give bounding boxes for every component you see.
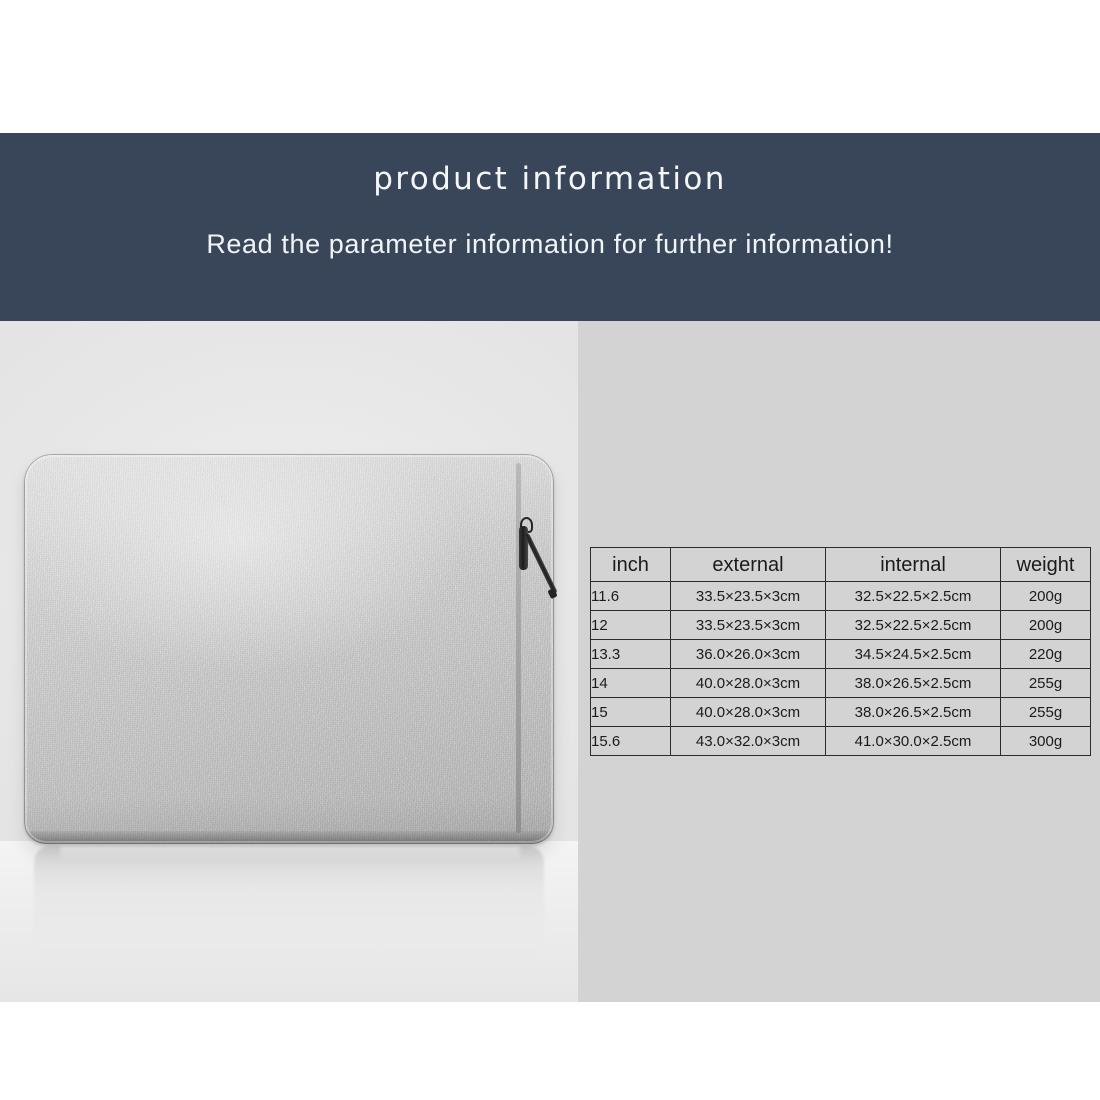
page-title: product information <box>0 161 1100 197</box>
cell-external: 40.0×28.0×3cm <box>671 669 826 698</box>
table-row: 12 33.5×23.5×3cm 32.5×22.5×2.5cm 200g <box>591 611 1091 640</box>
cell-weight: 255g <box>1001 669 1091 698</box>
cell-external: 40.0×28.0×3cm <box>671 698 826 727</box>
specification-table: inch external internal weight 11.6 33.5×… <box>590 547 1091 756</box>
cell-weight: 255g <box>1001 698 1091 727</box>
laptop-sleeve-product <box>24 454 554 844</box>
cell-internal: 32.5×22.5×2.5cm <box>826 582 1001 611</box>
spec-panel: inch external internal weight 11.6 33.5×… <box>578 321 1100 1002</box>
table-row: 14 40.0×28.0×3cm 38.0×26.5×2.5cm 255g <box>591 669 1091 698</box>
table-header-row: inch external internal weight <box>591 548 1091 582</box>
header-banner: product information Read the parameter i… <box>0 133 1100 321</box>
page-subtitle: Read the parameter information for furth… <box>0 229 1100 260</box>
cell-inch: 15.6 <box>591 727 671 756</box>
cell-external: 36.0×26.0×3cm <box>671 640 826 669</box>
cell-weight: 300g <box>1001 727 1091 756</box>
cell-weight: 200g <box>1001 611 1091 640</box>
cell-weight: 220g <box>1001 640 1091 669</box>
cell-external: 33.5×23.5×3cm <box>671 582 826 611</box>
product-info-page: product information Read the parameter i… <box>0 0 1100 1100</box>
cell-external: 43.0×32.0×3cm <box>671 727 826 756</box>
column-header-external: external <box>671 548 826 582</box>
product-reflection <box>34 846 544 964</box>
table-row: 15 40.0×28.0×3cm 38.0×26.5×2.5cm 255g <box>591 698 1091 727</box>
table-row: 15.6 43.0×32.0×3cm 41.0×30.0×2.5cm 300g <box>591 727 1091 756</box>
column-header-inch: inch <box>591 548 671 582</box>
cell-inch: 15 <box>591 698 671 727</box>
cell-internal: 38.0×26.5×2.5cm <box>826 669 1001 698</box>
cell-internal: 32.5×22.5×2.5cm <box>826 611 1001 640</box>
cell-inch: 14 <box>591 669 671 698</box>
table-row: 13.3 36.0×26.0×3cm 34.5×24.5×2.5cm 220g <box>591 640 1091 669</box>
cell-inch: 11.6 <box>591 582 671 611</box>
cell-inch: 12 <box>591 611 671 640</box>
cell-internal: 41.0×30.0×2.5cm <box>826 727 1001 756</box>
reflection-highlight <box>60 845 520 861</box>
table-row: 11.6 33.5×23.5×3cm 32.5×22.5×2.5cm 200g <box>591 582 1091 611</box>
product-photo-panel <box>0 321 578 1002</box>
fabric-sheen <box>24 454 554 844</box>
sleeve-bottom-edge <box>24 831 554 844</box>
column-header-internal: internal <box>826 548 1001 582</box>
column-header-weight: weight <box>1001 548 1091 582</box>
cell-internal: 38.0×26.5×2.5cm <box>826 698 1001 727</box>
cell-external: 33.5×23.5×3cm <box>671 611 826 640</box>
content-area: inch external internal weight 11.6 33.5×… <box>0 321 1100 1002</box>
cell-internal: 34.5×24.5×2.5cm <box>826 640 1001 669</box>
zipper-track <box>516 463 521 833</box>
cell-weight: 200g <box>1001 582 1091 611</box>
cell-inch: 13.3 <box>591 640 671 669</box>
